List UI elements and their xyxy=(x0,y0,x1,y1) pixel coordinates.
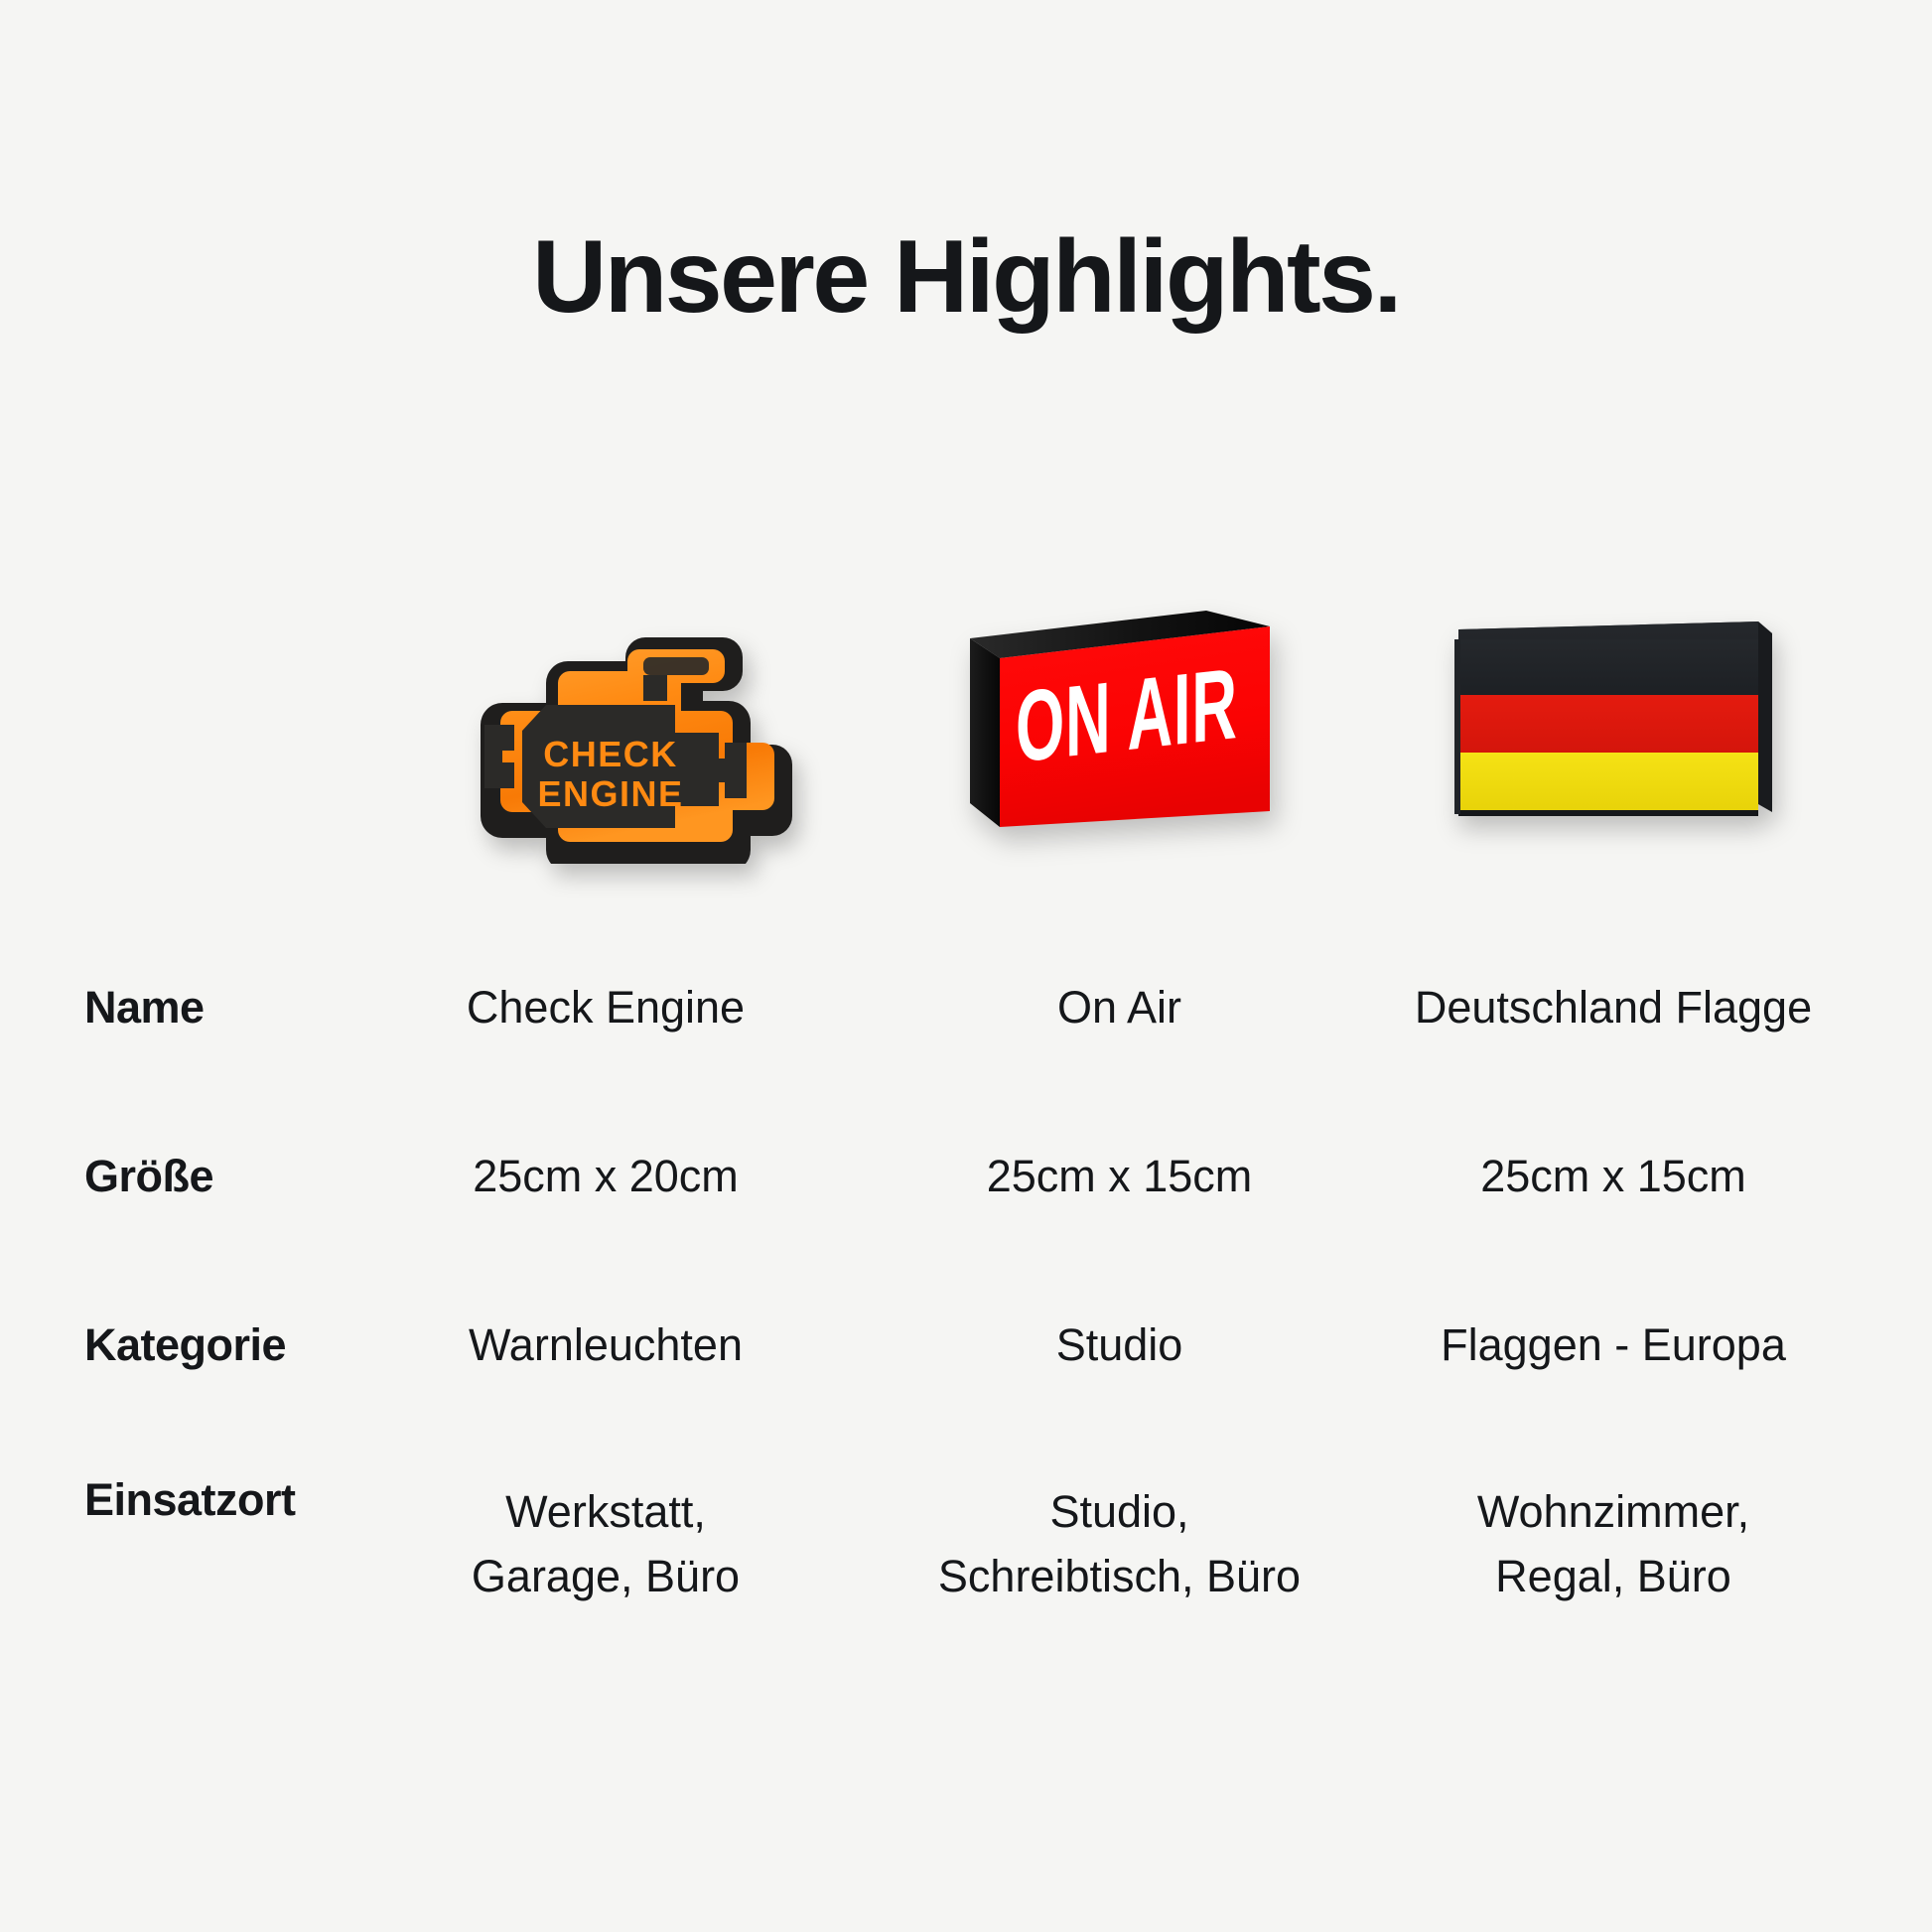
highlights-page: Unsere Highlights. xyxy=(0,0,1932,1932)
check-engine-lamp[interactable]: CHECK ENGINE xyxy=(407,576,804,864)
product-image-row: CHECK ENGINE xyxy=(0,536,1932,864)
cell-groesse-deutschland-flagge: 25cm x 15cm xyxy=(1355,1092,1871,1261)
germany-flag-box xyxy=(1445,600,1782,848)
table-row: Größe 25cm x 20cm 25cm x 15cm 25cm x 15c… xyxy=(0,1092,1932,1261)
product-image-check-engine[interactable]: CHECK ENGINE xyxy=(328,536,884,864)
on-air-box: ON AIR xyxy=(956,597,1284,850)
flag-stripe-red xyxy=(1458,695,1758,753)
cell-einsatzort-deutschland-flagge: Wohnzimmer, Regal, Büro xyxy=(1355,1430,1871,1658)
cell-name-on-air: On Air xyxy=(884,923,1355,1092)
table-row: Einsatzort Werkstatt, Garage, Büro Studi… xyxy=(0,1430,1932,1658)
cell-kategorie-check-engine: Warnleuchten xyxy=(328,1261,884,1430)
cell-groesse-check-engine: 25cm x 20cm xyxy=(328,1092,884,1261)
check-engine-label-line1: CHECK xyxy=(543,734,678,774)
flag-stripe-gold xyxy=(1458,753,1758,810)
product-image-on-air[interactable]: ON AIR xyxy=(884,536,1355,864)
table-row: Name Check Engine On Air Deutschland Fla… xyxy=(0,923,1932,1092)
einsatzort-line-2: Garage, Büro xyxy=(472,1551,740,1601)
deutschland-flagge-lightbox[interactable] xyxy=(1445,600,1782,848)
einsatzort-line-1: Studio, xyxy=(1049,1486,1188,1537)
cell-name-check-engine: Check Engine xyxy=(328,923,884,1092)
product-image-deutschland-flagge[interactable] xyxy=(1355,536,1871,864)
cell-groesse-on-air: 25cm x 15cm xyxy=(884,1092,1355,1261)
spec-table: Name Check Engine On Air Deutschland Fla… xyxy=(0,923,1932,1658)
einsatzort-line-2: Schreibtisch, Büro xyxy=(938,1551,1301,1601)
cell-name-deutschland-flagge: Deutschland Flagge xyxy=(1355,923,1871,1092)
einsatzort-line-1: Wohnzimmer, xyxy=(1477,1486,1749,1537)
cell-einsatzort-check-engine: Werkstatt, Garage, Büro xyxy=(328,1430,884,1658)
on-air-lightbox[interactable]: ON AIR xyxy=(956,597,1284,850)
cell-kategorie-on-air: Studio xyxy=(884,1261,1355,1430)
check-engine-icon: CHECK ENGINE xyxy=(407,576,804,864)
einsatzort-line-1: Werkstatt, xyxy=(505,1486,706,1537)
flag-side-edge xyxy=(1758,621,1772,812)
on-air-side-panel xyxy=(970,638,1000,827)
einsatzort-line-2: Regal, Büro xyxy=(1495,1551,1731,1601)
check-engine-label-line2: ENGINE xyxy=(537,773,683,814)
cell-einsatzort-on-air: Studio, Schreibtisch, Büro xyxy=(884,1430,1355,1658)
cell-kategorie-deutschland-flagge: Flaggen - Europa xyxy=(1355,1261,1871,1430)
page-title: Unsere Highlights. xyxy=(0,223,1932,332)
table-row: Kategorie Warnleuchten Studio Flaggen - … xyxy=(0,1261,1932,1430)
